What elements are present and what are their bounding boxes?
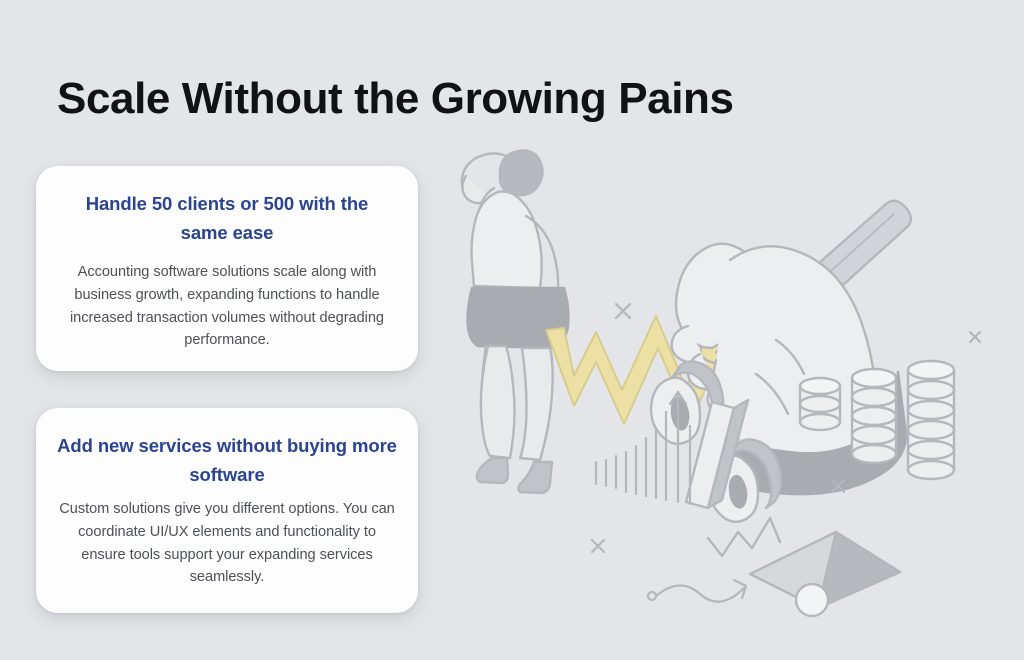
- card-1-heading: Handle 50 clients or 500 with the same e…: [58, 190, 396, 247]
- feature-card-2: Add new services without buying more sof…: [36, 408, 418, 613]
- feature-card-1: Handle 50 clients or 500 with the same e…: [36, 166, 418, 371]
- card-1-body: Accounting software solutions scale alon…: [58, 261, 396, 351]
- curved-arrow-icon: [648, 580, 746, 602]
- woman-figure-icon: [462, 150, 569, 493]
- card-2-body: Custom solutions give you different opti…: [54, 498, 400, 588]
- business-growth-illustration: [430, 140, 1010, 620]
- zigzag-line-icon: [708, 518, 780, 556]
- page-title: Scale Without the Growing Pains: [57, 74, 734, 124]
- slide-canvas: Scale Without the Growing Pains Handle 5…: [0, 0, 1024, 660]
- card-2-heading: Add new services without buying more sof…: [54, 432, 400, 489]
- paper-plane-icon: [750, 532, 900, 616]
